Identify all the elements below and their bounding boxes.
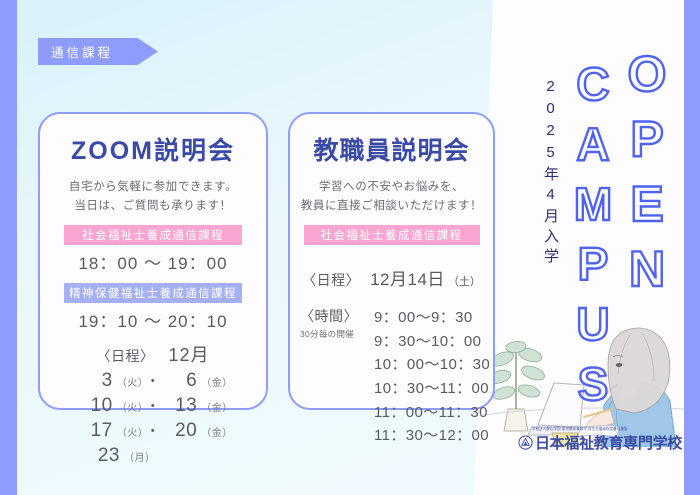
poster-canvas: 通信課程 ZOOM説明会 自宅から気軽に参加できます。 当日は、ご質問も承ります… [0,0,700,495]
zoom-date-row: 23 （月） [46,445,260,467]
time-slot: 9：30～10：00 [374,330,490,354]
headline-open: OPEN [622,46,672,306]
zoom-date-row: 17 （火） ・ 20 （金） [46,420,260,442]
date-first-day: 17 [79,420,113,442]
staff-card-title: 教職員説明会 [290,131,493,167]
staff-date-row: 〈日程〉 12月14日 （土） [290,265,493,290]
school-name: 日本福祉教育専門学校 [535,432,682,453]
zoom-card-title: ZOOM説明会 [40,131,266,167]
zoom-lead-line-2: 当日は、ご質問も承ります！ [40,197,266,216]
zoom-schedule-month: 12月 [168,341,209,367]
date-separator: ・ [146,396,161,416]
headline-campus: CAMPUS [570,58,616,418]
date-first-day: 3 [79,370,113,392]
date-separator: ・ [146,371,161,391]
zoom-session-time-seishin: 19：10 ～ 20：10 [40,307,266,332]
zoom-schedule-label: 〈日程〉 [96,346,154,366]
school-crest-icon [518,435,533,450]
zoom-date-row: 3 （火） ・ 6 （金） [46,370,260,392]
school-logo: 学校法人敬心学園 東京都知事認可 厚生労働省指定養成施設 日本福祉教育専門学校 [518,426,682,453]
date-second-day: 20 [163,420,197,442]
zoom-lead-line-1: 自宅から気軽に参加できます。 [40,178,266,197]
staff-date-dow: （土） [448,273,481,289]
zoom-card-lead: 自宅から気軽に参加できます。 当日は、ご質問も承ります！ [40,178,266,216]
right-edge-stripe [684,0,700,495]
left-edge-stripe [0,0,17,495]
staff-session-tag: 社会福祉士養成通信課程 [304,225,480,245]
staff-date-value: 12月14日 [370,265,445,290]
time-slot: 9：00～9：30 [374,306,490,330]
zoom-schedule: 〈日程〉 12月 3 （火） ・ 6 （金） 10 （火） ・ 13 （金） 1… [40,341,266,467]
date-first-day: 10 [79,395,113,417]
headline-enrollment-date: 2025年4月入学 [543,78,558,268]
staff-lead-line-1: 学習への不安やお悩みを、 [290,178,493,197]
date-first-dow: （月） [124,449,150,464]
date-second-dow: （金） [201,424,227,439]
date-second-day: 13 [163,395,197,417]
staff-time-label-group: 〈時間〉 30分毎の開催 [300,306,374,448]
date-separator: ・ [146,421,161,441]
staff-lead-line-2: 教員に直接ご相談いただけます！ [290,197,493,216]
staff-date-label: 〈日程〉 [302,270,360,290]
time-slot: 10：00～10：30 [374,353,490,377]
date-first-dow: （火） [117,424,143,439]
staff-time-slots: 9：00～9：30 9：30～10：00 10：00～10：30 10：30～1… [374,306,490,448]
zoom-session-card: ZOOM説明会 自宅から気軽に参加できます。 当日は、ご質問も承ります！ 社会福… [38,112,268,410]
zoom-session-time-shakai: 18：00 ～ 19：00 [40,249,266,274]
date-first-dow: （火） [117,399,143,414]
date-first-day: 23 [86,445,120,467]
date-second-dow: （金） [201,374,227,389]
school-logo-row: 日本福祉教育専門学校 [518,432,682,453]
zoom-schedule-header: 〈日程〉 12月 [46,341,260,367]
zoom-date-row: 10 （火） ・ 13 （金） [46,395,260,417]
course-banner-label: 通信課程 [38,42,113,61]
date-second-dow: （金） [201,399,227,414]
staff-time-label: 〈時間〉 [300,306,374,326]
staff-time-note: 30分毎の開催 [300,328,374,340]
time-slot: 11：00～11：30 [374,401,490,425]
school-logo-micro-text: 学校法人敬心学園 東京都知事認可 厚生労働省指定養成施設 [532,426,628,432]
staff-session-card: 教職員説明会 学習への不安やお悩みを、 教員に直接ご相談いただけます！ 社会福祉… [288,112,495,410]
course-banner: 通信課程 [38,38,158,65]
date-second-day: 6 [163,370,197,392]
date-first-dow: （火） [117,374,143,389]
school-logo-inner: 学校法人敬心学園 東京都知事認可 厚生労働省指定養成施設 日本福祉教育専門学校 [518,426,682,453]
zoom-session-tag-shakai: 社会福祉士養成通信課程 [64,225,242,245]
zoom-session-tag-seishin: 精神保健福祉士養成通信課程 [64,283,242,303]
staff-card-lead: 学習への不安やお悩みを、 教員に直接ご相談いただけます！ [290,178,493,216]
time-slot: 11：30～12：00 [374,424,490,448]
staff-time-row: 〈時間〉 30分毎の開催 9：00～9：30 9：30～10：00 10：00～… [290,306,493,448]
time-slot: 10：30～11：00 [374,377,490,401]
